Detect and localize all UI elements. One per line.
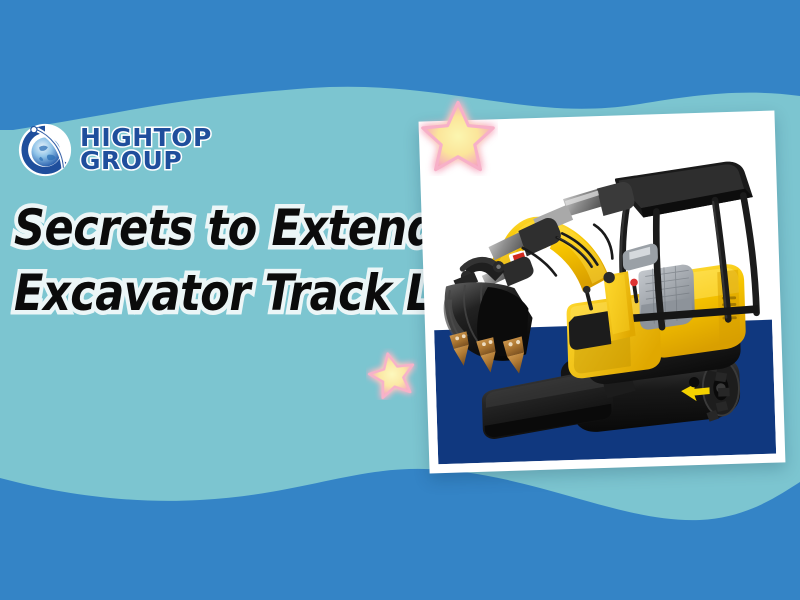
sparkle-star-icon bbox=[366, 348, 418, 400]
bottom-wave-decoration bbox=[0, 450, 800, 600]
brand-logo[interactable]: HIGHTOP GROUP bbox=[16, 118, 206, 180]
banner-canvas: HIGHTOP GROUP Secrets to Extending Your … bbox=[0, 0, 800, 600]
brand-line-2: GROUP bbox=[80, 149, 212, 172]
top-wave-decoration bbox=[0, 0, 800, 130]
headline-line-1: Secrets to Extending Your bbox=[14, 196, 461, 261]
headline-line-2: Excavator Track Life bbox=[14, 261, 461, 326]
work-light bbox=[622, 244, 658, 271]
sparkle-star-icon bbox=[418, 96, 498, 176]
brand-wordmark: HIGHTOP GROUP bbox=[80, 126, 212, 172]
digging-bucket bbox=[443, 280, 534, 375]
globe-crescent-icon bbox=[16, 120, 74, 178]
